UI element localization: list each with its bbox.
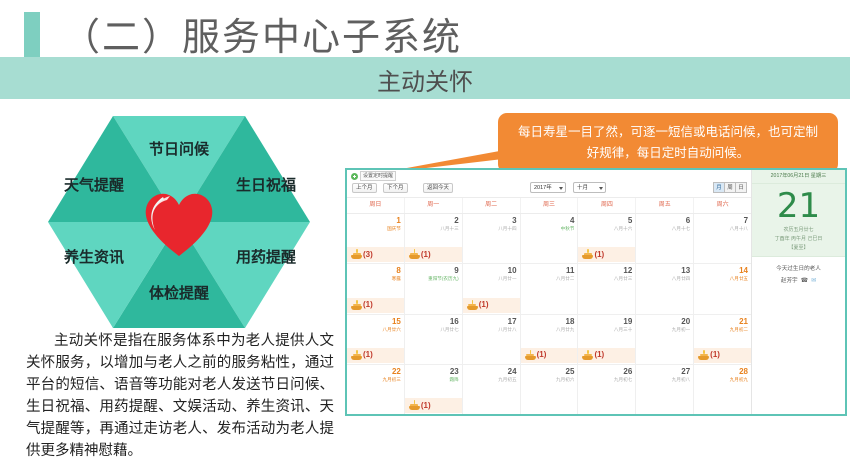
phone-icon[interactable]: ☎ <box>801 277 808 284</box>
side-lunar-line-1: 农历五月廿七 <box>752 226 845 235</box>
cake-icon <box>351 350 362 361</box>
day-lunar-label: 八月廿九 <box>521 326 575 333</box>
day-lunar-label: 霜降 <box>405 376 459 383</box>
hex-label-checkup-reminder: 体检提醒 <box>149 282 209 303</box>
calendar-week-row: 22九月初三23霜降(1)24九月初五25九月初六26九月初七27九月初八28九… <box>347 365 751 414</box>
day-number: 14 <box>694 266 748 275</box>
person-name: 赵芳宇 <box>781 276 798 284</box>
day-lunar-label: 九月初一 <box>636 326 690 333</box>
day-number: 25 <box>521 367 575 376</box>
calendar-day-cell[interactable]: 16八月廿七 <box>405 315 463 364</box>
day-number: 6 <box>636 216 690 225</box>
cake-icon <box>467 300 478 311</box>
description-paragraph: 主动关怀是指在服务体系中为老人提供人文关怀服务，以增加与老人之前的服务粘性，通过… <box>26 330 334 462</box>
birthday-event[interactable]: (1) <box>578 348 635 363</box>
calendar-day-cell[interactable]: 24九月初五 <box>463 365 521 414</box>
next-month-button[interactable]: 下个月 <box>383 183 408 193</box>
calendar-day-cell[interactable]: 5八月十六(1) <box>578 214 636 263</box>
day-number: 24 <box>463 367 517 376</box>
birthday-count: (1) <box>421 250 431 260</box>
day-number: 20 <box>636 317 690 326</box>
calendar-day-cell[interactable]: 10八月廿一(1) <box>463 264 521 313</box>
day-lunar-label: 八月十七 <box>636 225 690 232</box>
calendar-day-cell[interactable]: 11八月廿二 <box>521 264 579 313</box>
day-lunar-label: 重阳节(农历九) <box>405 275 459 282</box>
weekday-header-row: 周日 周一 周二 周三 周四 周五 周六 <box>347 198 751 214</box>
day-number: 7 <box>694 216 748 225</box>
hex-label-birthday-wish: 生日祝福 <box>236 174 296 195</box>
day-number: 18 <box>521 317 575 326</box>
day-lunar-label: 九月初二 <box>694 326 748 333</box>
day-lunar-label: 八月廿七 <box>405 326 459 333</box>
day-lunar-label: 八月廿四 <box>636 275 690 282</box>
hex-label-health-info: 养生资讯 <box>64 246 124 267</box>
day-number: 28 <box>694 367 748 376</box>
day-lunar-label: 八月十三 <box>405 225 459 232</box>
calendar-day-cell[interactable]: 20九月初一 <box>636 315 694 364</box>
birthday-list-item[interactable]: 赵芳宇 ☎ ✉ <box>752 272 845 284</box>
day-number: 22 <box>347 367 401 376</box>
birthday-event[interactable]: (1) <box>405 398 462 413</box>
calendar-day-cell[interactable]: 7八月十八 <box>694 214 751 263</box>
view-toggle-group: 月 周 日 <box>714 182 747 193</box>
weekday-sun: 周日 <box>347 198 405 213</box>
birthday-event[interactable]: (1) <box>521 348 578 363</box>
birthday-event[interactable]: (3) <box>347 247 404 262</box>
day-lunar-label: 八月廿六 <box>347 326 401 333</box>
calendar-widget: 设置定时提醒 上个月 下个月 返回今天 2017年 十月 月 周 日 周日 周一 <box>345 168 847 416</box>
birthday-count: (1) <box>710 350 720 360</box>
calendar-day-cell[interactable]: 1国庆节(3) <box>347 214 405 263</box>
weekday-sat: 周六 <box>694 198 751 213</box>
birthday-count: (1) <box>363 350 373 360</box>
weekday-thu: 周四 <box>578 198 636 213</box>
prev-month-button[interactable]: 上个月 <box>352 183 377 193</box>
callout-line-2: 好规律，每日定时自动问候。 <box>512 142 824 163</box>
calendar-day-cell[interactable]: 3八月十四 <box>463 214 521 263</box>
title-accent-bar <box>24 12 40 60</box>
birthday-count: (1) <box>594 250 604 260</box>
calendar-day-cell[interactable]: 25九月初六 <box>521 365 579 414</box>
cake-icon <box>351 249 362 260</box>
birthday-count: (3) <box>363 250 373 260</box>
side-date-line: 2017年06月21日 星期三 <box>752 170 845 184</box>
day-number: 16 <box>405 317 459 326</box>
day-lunar-label: 中秋节 <box>521 225 575 232</box>
day-lunar-label: 九月初七 <box>578 376 632 383</box>
calendar-week-row: 1国庆节(3)2八月十三(1)3八月十四4中秋节5八月十六(1)6八月十七7八月… <box>347 214 751 264</box>
calendar-day-cell[interactable]: 15八月廿六(1) <box>347 315 405 364</box>
calendar-day-cell[interactable]: 19八月三十(1) <box>578 315 636 364</box>
day-number: 8 <box>347 266 401 275</box>
cake-icon <box>525 350 536 361</box>
add-icon <box>351 173 358 180</box>
day-lunar-label: 八月十六 <box>578 225 632 232</box>
birthday-event[interactable]: (1) <box>347 348 404 363</box>
callout-bubble: 每日寿星一目了然，可逐一短信或电话问候，也可定制 好规律，每日定时自动问候。 <box>498 113 838 173</box>
year-select[interactable]: 2017年 <box>530 182 566 193</box>
calendar-side-panel: 2017年06月21日 星期三 21 农历五月廿七 丁酉年 丙午月 己巳日 【夏… <box>752 170 845 414</box>
callout-line-1: 每日寿星一目了然，可逐一短信或电话问候，也可定制 <box>512 121 824 142</box>
birthday-event[interactable]: (1) <box>578 247 635 262</box>
calendar-day-cell[interactable]: 2八月十三(1) <box>405 214 463 263</box>
weekday-mon: 周一 <box>405 198 463 213</box>
calendar-week-row: 8寒露(1)9重阳节(农历九)10八月廿一(1)11八月廿二12八月廿三13八月… <box>347 264 751 314</box>
back-today-button[interactable]: 返回今天 <box>423 183 453 193</box>
day-lunar-label: 八月三十 <box>578 326 632 333</box>
day-number: 2 <box>405 216 459 225</box>
calendar-day-cell[interactable]: 14八月廿五 <box>694 264 751 313</box>
day-number: 27 <box>636 367 690 376</box>
day-number: 17 <box>463 317 517 326</box>
calendar-day-cell[interactable]: 26九月初七 <box>578 365 636 414</box>
weekday-fri: 周五 <box>636 198 694 213</box>
page-subtitle: 主动关怀 <box>0 62 850 97</box>
cake-icon <box>409 400 420 411</box>
day-number: 12 <box>578 266 632 275</box>
calendar-day-cell[interactable]: 27九月初八 <box>636 365 694 414</box>
calendar-day-cell[interactable]: 12八月廿三 <box>578 264 636 313</box>
birthday-event[interactable]: (1) <box>347 298 404 313</box>
day-lunar-label: 九月初三 <box>347 376 401 383</box>
birthday-count: (1) <box>537 350 547 360</box>
day-lunar-label: 国庆节 <box>347 225 401 232</box>
birthday-count: (1) <box>363 300 373 310</box>
message-icon[interactable]: ✉ <box>811 277 816 284</box>
calendar-day-cell[interactable]: 18八月廿九(1) <box>521 315 579 364</box>
header-bar: （二）服务中心子系统 <box>0 0 850 62</box>
calendar-day-cell[interactable]: 22九月初三 <box>347 365 405 414</box>
calendar-day-cell[interactable]: 9重阳节(农历九) <box>405 264 463 313</box>
day-lunar-label: 八月廿二 <box>521 275 575 282</box>
day-number: 19 <box>578 317 632 326</box>
month-select[interactable]: 十月 <box>573 182 606 193</box>
day-lunar-label: 寒露 <box>347 275 401 282</box>
cake-icon <box>582 249 593 260</box>
day-number: 3 <box>463 216 517 225</box>
day-lunar-label: 九月初六 <box>521 376 575 383</box>
calendar-week-row: 15八月廿六(1)16八月廿七17八月廿八18八月廿九(1)19八月三十(1)2… <box>347 315 751 365</box>
day-number: 15 <box>347 317 401 326</box>
birthday-event[interactable]: (1) <box>405 247 462 262</box>
cake-icon <box>351 300 362 311</box>
calendar-day-cell[interactable]: 6八月十七 <box>636 214 694 263</box>
heart-icon <box>140 186 218 258</box>
day-number: 26 <box>578 367 632 376</box>
page-title: （二）服务中心子系统 <box>62 6 462 61</box>
day-lunar-label: 八月廿五 <box>694 275 748 282</box>
birthday-count: (1) <box>594 350 604 360</box>
cake-icon <box>698 350 709 361</box>
day-lunar-label: 九月初九 <box>694 376 748 383</box>
cake-icon <box>409 249 420 260</box>
day-number: 10 <box>463 266 517 275</box>
set-reminder-control[interactable]: 设置定时提醒 <box>351 171 396 181</box>
day-lunar-label: 八月廿三 <box>578 275 632 282</box>
day-lunar-label: 九月初五 <box>463 376 517 383</box>
side-solar-term: 【夏至】 <box>752 244 845 257</box>
day-number: 4 <box>521 216 575 225</box>
day-lunar-label: 八月十四 <box>463 225 517 232</box>
day-number: 9 <box>405 266 459 275</box>
birthday-event[interactable]: (1) <box>694 348 751 363</box>
day-number: 11 <box>521 266 575 275</box>
day-lunar-label: 八月廿一 <box>463 275 517 282</box>
day-number: 23 <box>405 367 459 376</box>
birthday-list-title: 今天过生日的老人 <box>752 257 845 272</box>
calendar-day-cell[interactable]: 8寒露(1) <box>347 264 405 313</box>
side-lunar-line-2: 丁酉年 丙午月 己巳日 <box>752 235 845 244</box>
side-big-day: 21 <box>752 184 845 226</box>
birthday-count: (1) <box>479 300 489 310</box>
calendar-grid: 1国庆节(3)2八月十三(1)3八月十四4中秋节5八月十六(1)6八月十七7八月… <box>347 214 751 414</box>
hex-label-weather-reminder: 天气提醒 <box>64 174 124 195</box>
calendar-day-cell[interactable]: 21九月初二(1) <box>694 315 751 364</box>
slide-root: （二）服务中心子系统 主动关怀 节日问候 天气提醒 生日祝福 养生资讯 用药提醒… <box>0 0 850 452</box>
hexagon-diagram: 节日问候 天气提醒 生日祝福 养生资讯 用药提醒 体检提醒 <box>48 116 310 328</box>
calendar-day-cell[interactable]: 23霜降(1) <box>405 365 463 414</box>
view-day-button[interactable]: 日 <box>735 182 747 193</box>
calendar-day-cell[interactable]: 13八月廿四 <box>636 264 694 313</box>
weekday-wed: 周三 <box>521 198 579 213</box>
set-reminder-label: 设置定时提醒 <box>360 171 396 181</box>
calendar-day-cell[interactable]: 28九月初九 <box>694 365 751 414</box>
birthday-event[interactable]: (1) <box>463 298 520 313</box>
day-lunar-label: 九月初八 <box>636 376 690 383</box>
day-number: 13 <box>636 266 690 275</box>
day-lunar-label: 八月廿八 <box>463 326 517 333</box>
calendar-main: 设置定时提醒 上个月 下个月 返回今天 2017年 十月 月 周 日 周日 周一 <box>347 170 752 414</box>
hex-label-festival-greeting: 节日问候 <box>149 138 209 159</box>
day-lunar-label: 八月十八 <box>694 225 748 232</box>
day-number: 1 <box>347 216 401 225</box>
calendar-day-cell[interactable]: 17八月廿八 <box>463 315 521 364</box>
calendar-day-cell[interactable]: 4中秋节 <box>521 214 579 263</box>
cake-icon <box>582 350 593 361</box>
day-number: 21 <box>694 317 748 326</box>
weekday-tue: 周二 <box>463 198 521 213</box>
day-number: 5 <box>578 216 632 225</box>
birthday-count: (1) <box>421 401 431 411</box>
calendar-toolbar: 设置定时提醒 上个月 下个月 返回今天 2017年 十月 月 周 日 <box>347 170 751 198</box>
hex-label-medication-reminder: 用药提醒 <box>236 246 296 267</box>
